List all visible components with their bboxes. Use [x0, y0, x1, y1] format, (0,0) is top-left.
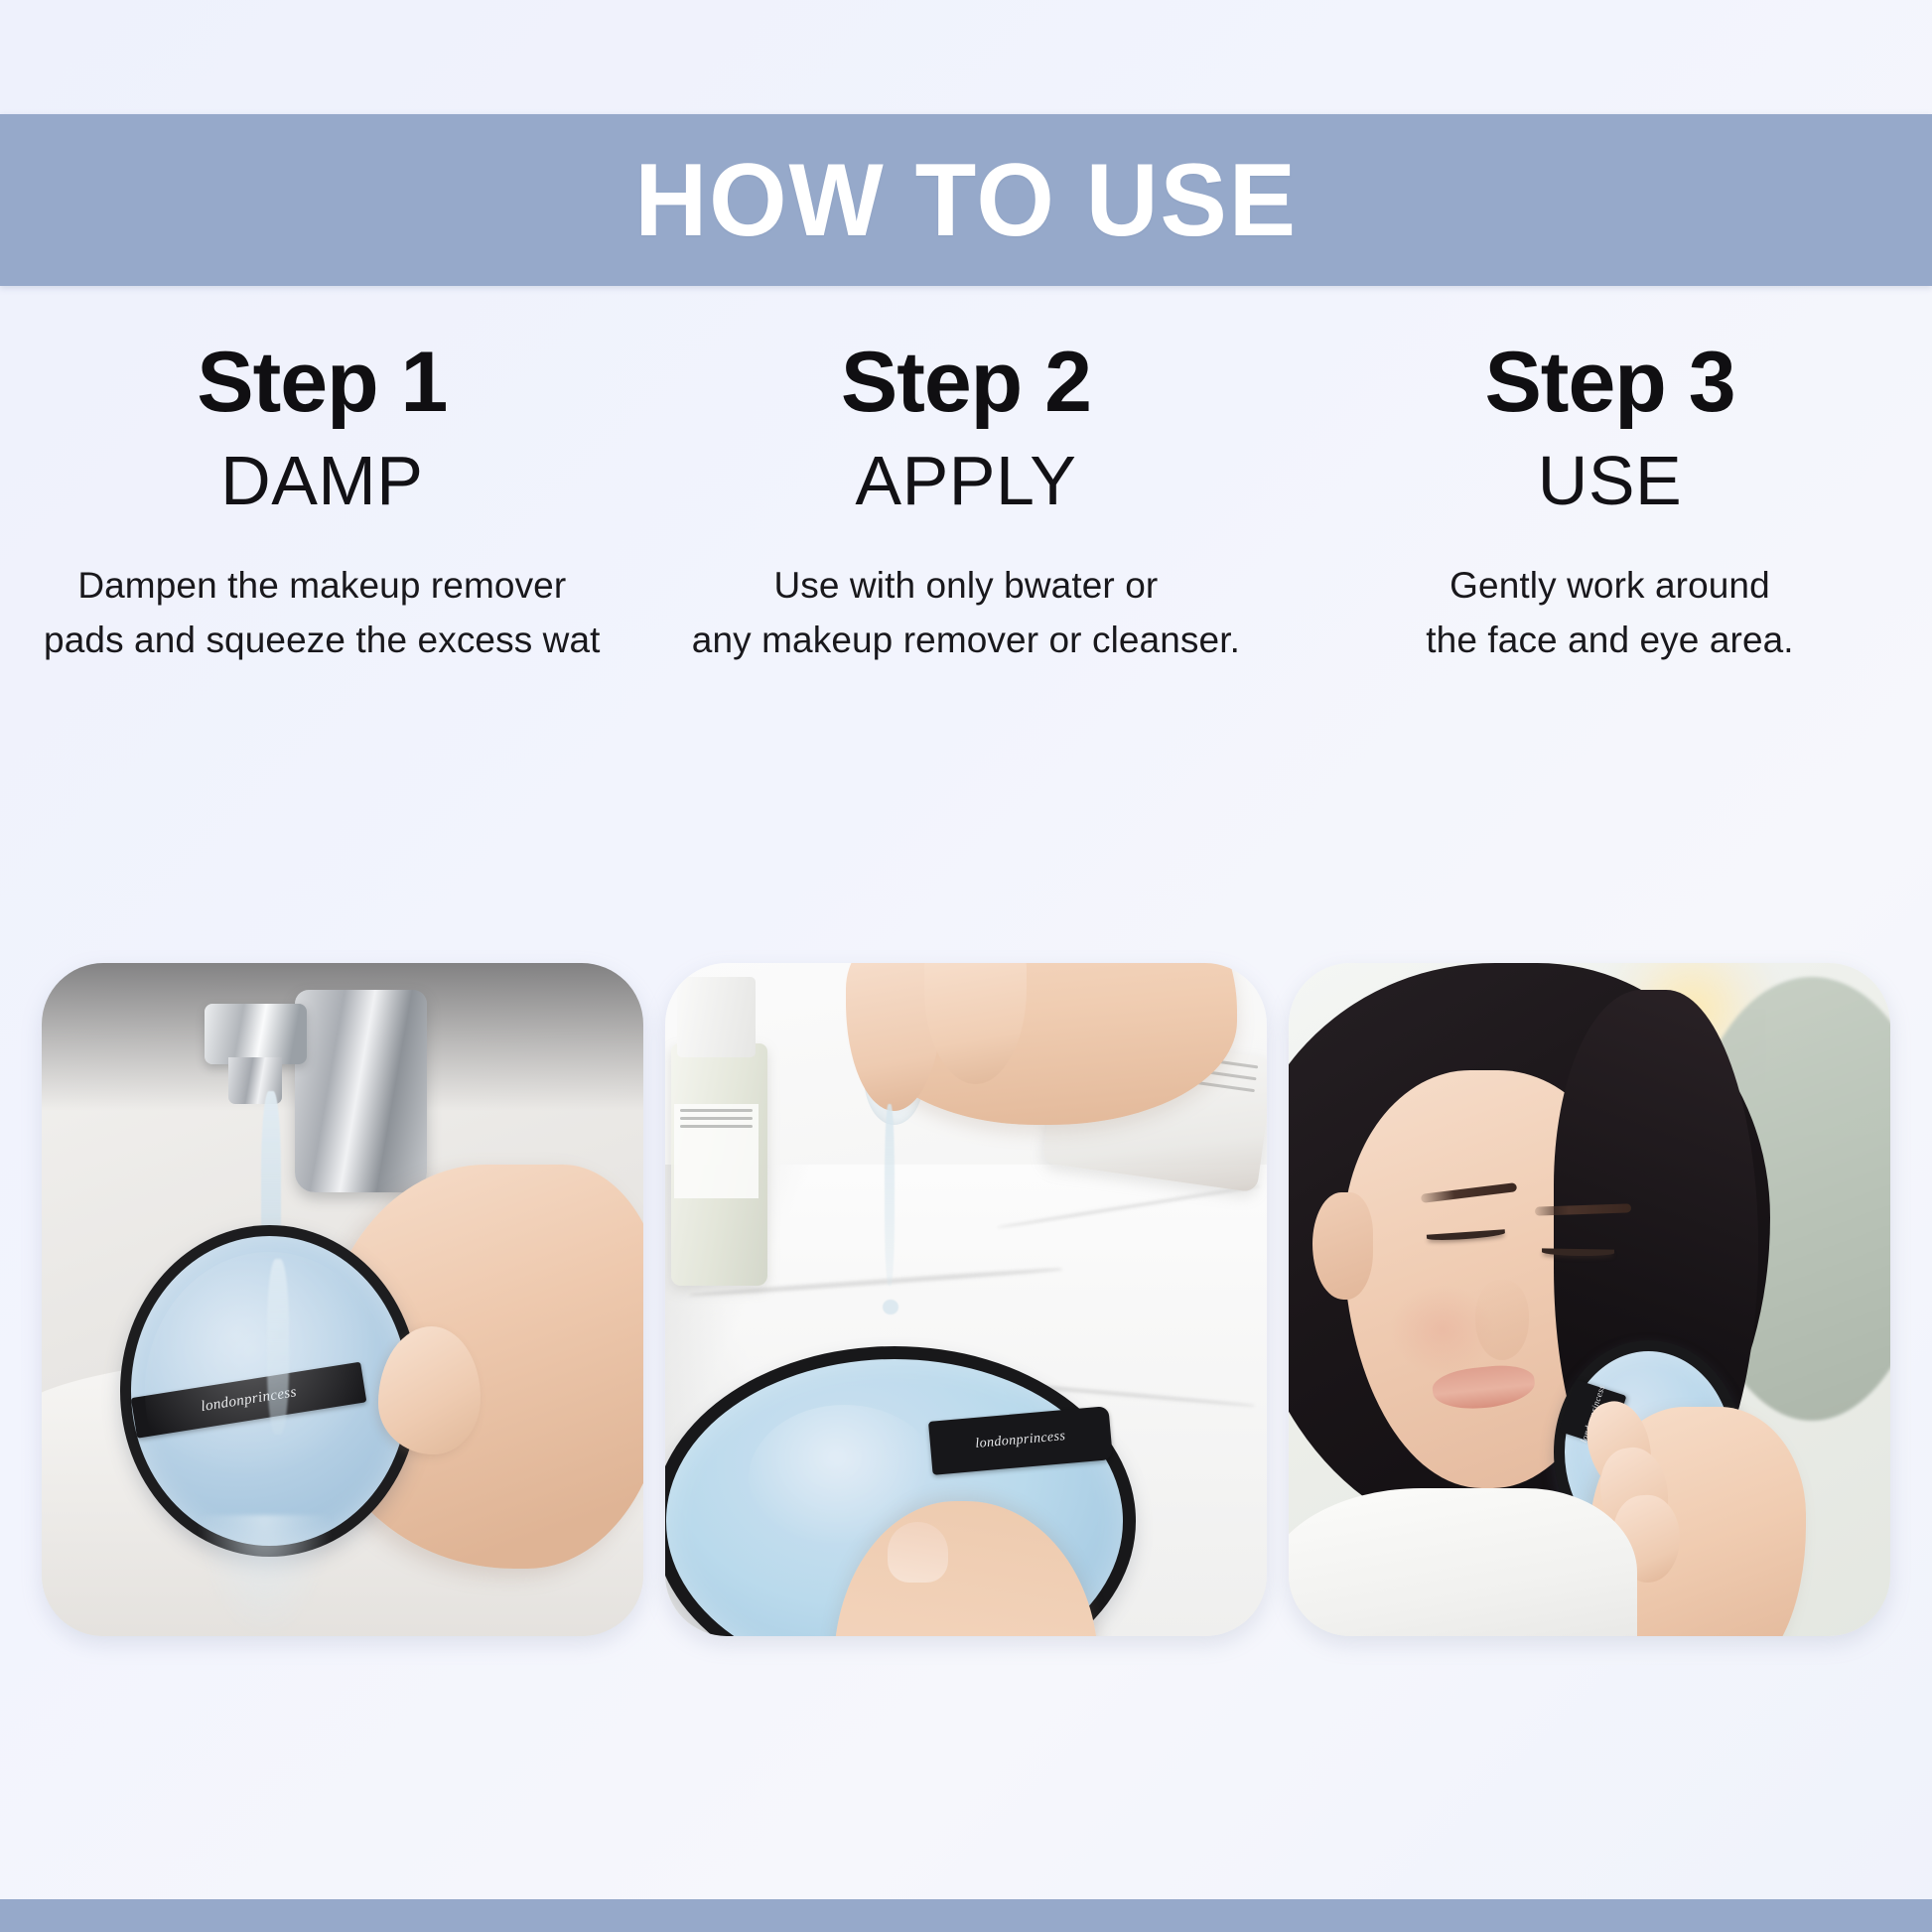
step-2-photo: londonprincess [665, 963, 1267, 1636]
step-1-description-line-1: Dampen the makeup remover [77, 565, 566, 606]
faucet-head [205, 1004, 307, 1064]
pad-brand-strap: londonprincess [130, 1361, 366, 1438]
ear [1312, 1192, 1373, 1300]
nose [1475, 1280, 1530, 1360]
step-2-title: Step 2 [841, 338, 1091, 427]
step-3-title: Step 3 [1484, 338, 1734, 427]
liquid-droplet [883, 1300, 898, 1314]
step-column-1: Step 1 DAMP Dampen the makeup remover pa… [0, 338, 644, 668]
thumbnail [888, 1522, 948, 1583]
faucet-body [295, 990, 427, 1191]
liquid-drip [885, 1104, 895, 1286]
step-2-description: Use with only bwater or any makeup remov… [692, 558, 1240, 668]
header-banner: HOW TO USE [0, 114, 1932, 286]
step-3-description-line-2: the face and eye area. [1426, 620, 1793, 660]
water-stream-lower [267, 1259, 289, 1434]
step-1-photo: londonprincess [42, 963, 643, 1636]
step-1-description: Dampen the makeup remover pads and squee… [44, 558, 601, 668]
step-3-description: Gently work around the face and eye area… [1426, 558, 1793, 668]
step-3-description-line-1: Gently work around [1449, 565, 1770, 606]
cleanser-bottle-label [674, 1104, 759, 1198]
pad-brand-label: londonprincess [974, 1429, 1065, 1452]
water-splash [199, 1515, 331, 1636]
step-2-description-line-2: any makeup remover or cleanser. [692, 620, 1240, 660]
step-3-photo: londonprincess [1289, 963, 1890, 1636]
step-photos-row: londonprincess londonprince [42, 963, 1890, 1636]
how-to-use-infographic: HOW TO USE Step 1 DAMP Dampen the makeup… [0, 0, 1932, 1932]
step-column-2: Step 2 APPLY Use with only bwater or any… [644, 338, 1289, 668]
footer-banner [0, 1899, 1932, 1932]
step-2-description-line-1: Use with only bwater or [773, 565, 1158, 606]
steps-text-row: Step 1 DAMP Dampen the makeup remover pa… [0, 338, 1932, 668]
step-3-subtitle: USE [1538, 445, 1682, 518]
step-1-subtitle: DAMP [220, 445, 423, 518]
step-1-description-line-2: pads and squeeze the excess wat [44, 620, 601, 660]
step-2-subtitle: APPLY [855, 445, 1076, 518]
cleanser-bottle-cap [677, 977, 756, 1057]
step-column-3: Step 3 USE Gently work around the face a… [1288, 338, 1932, 668]
step-1-title: Step 1 [197, 338, 447, 427]
bathrobe [1289, 1488, 1637, 1636]
page-title: HOW TO USE [634, 149, 1298, 252]
